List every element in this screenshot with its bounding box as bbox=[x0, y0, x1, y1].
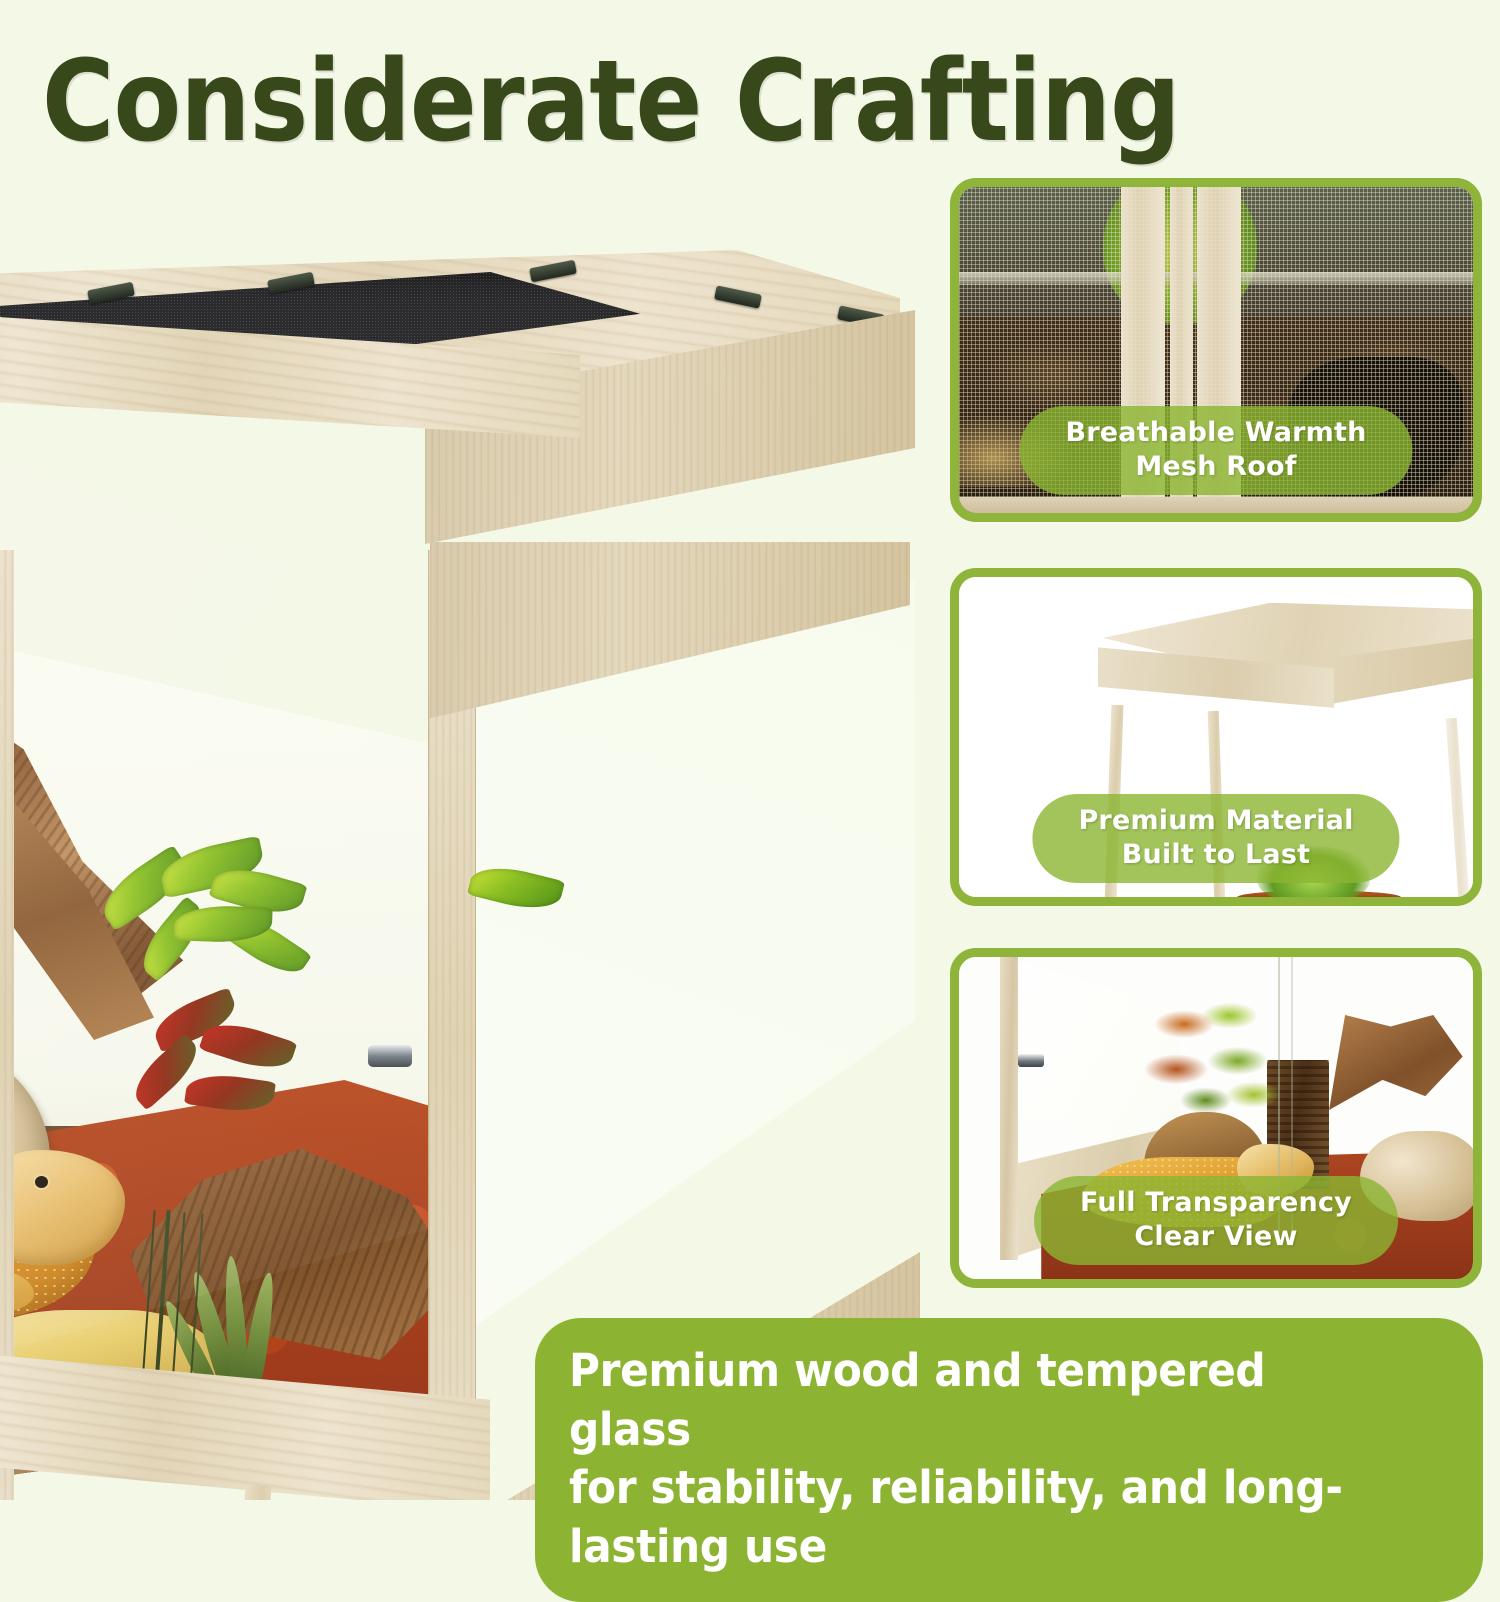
badge-mesh-roof: Breathable Warmth Mesh Roof bbox=[1019, 406, 1412, 495]
bottom-caption: Premium wood and tempered glass for stab… bbox=[535, 1318, 1483, 1602]
caption-line-1: Premium wood and tempered glass bbox=[569, 1342, 1396, 1459]
artificial-plant bbox=[1144, 996, 1278, 1138]
badge-line-2: Built to Last bbox=[1078, 838, 1353, 873]
plant-base-clip bbox=[368, 1045, 412, 1067]
badge-line-1: Breathable Warmth bbox=[1065, 416, 1366, 451]
badge-line-1: Full Transparency bbox=[1080, 1186, 1352, 1221]
caption-line-2: for stability, reliability, and long-las… bbox=[569, 1459, 1396, 1576]
badge-line-2: Clear View bbox=[1080, 1220, 1352, 1255]
lock-icon bbox=[1018, 1054, 1044, 1067]
page-title: Considerate Crafting bbox=[42, 46, 1300, 158]
feature-card-premium-material[interactable]: Premium Material Built to Last bbox=[950, 568, 1482, 906]
corner-post-left bbox=[1000, 957, 1017, 1260]
hero-product-photo bbox=[0, 250, 960, 1500]
badge-line-1: Premium Material bbox=[1078, 804, 1353, 839]
feature-card-mesh-roof[interactable]: Breathable Warmth Mesh Roof bbox=[950, 178, 1482, 522]
badge-premium-material: Premium Material Built to Last bbox=[1032, 794, 1399, 883]
feature-card-full-transparency[interactable]: Full Transparency Clear View bbox=[950, 948, 1482, 1288]
badge-full-transparency: Full Transparency Clear View bbox=[1034, 1176, 1398, 1265]
badge-line-2: Mesh Roof bbox=[1065, 450, 1366, 485]
